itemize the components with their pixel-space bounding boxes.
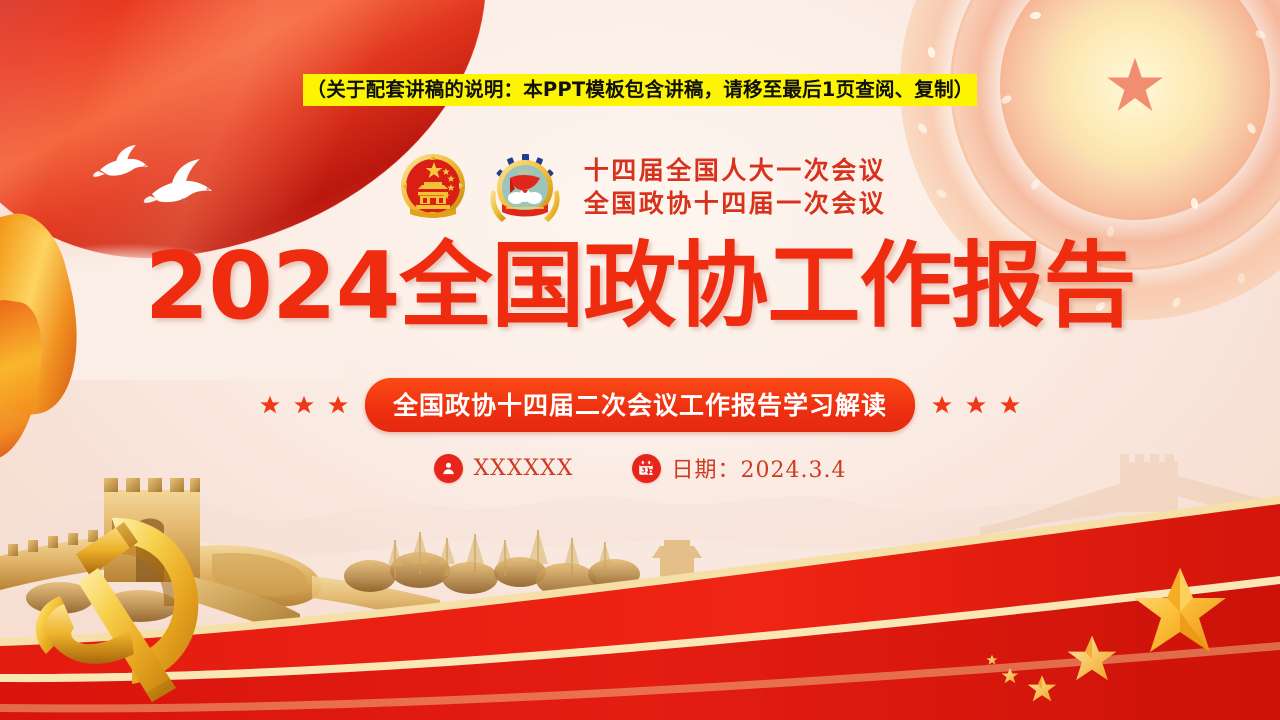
starburst-dot — [916, 122, 928, 135]
person-icon — [434, 454, 463, 483]
organization-line-2: 全国政协十四届一次会议 — [584, 187, 887, 220]
subtitle-row: 全国政协十四届二次会议工作报告学习解读 — [0, 378, 1280, 432]
gold-stars-decoration — [980, 564, 1270, 714]
starburst-dot — [927, 47, 937, 59]
organization-lines: 十四届全国人大一次会议 全国政协十四届一次会议 — [584, 154, 887, 220]
presentation-title-slide: （关于配套讲稿的说明：本PPT模板包含讲稿，请移至最后1页查阅、复制） — [0, 0, 1280, 720]
stars-right — [931, 394, 1021, 416]
stars-left — [259, 394, 349, 416]
presenter-item: XXXXXX — [434, 454, 574, 483]
organization-header: 1949 十四届全国人大一次会议 全国政协十四届一次会议 — [0, 148, 1280, 226]
cppcc-emblem-icon: 1949 — [486, 148, 564, 226]
date-value: 日期：2024.3.4 — [672, 452, 847, 484]
page-title: 2024全国政协工作报告 — [0, 240, 1280, 333]
svg-text:1949: 1949 — [517, 169, 532, 176]
national-emblem-of-china-icon — [394, 148, 472, 226]
starburst-dot — [1245, 122, 1257, 135]
star-icon — [327, 394, 349, 416]
organization-line-1: 十四届全国人大一次会议 — [584, 154, 887, 187]
starburst-dot — [1029, 11, 1041, 20]
date-item: 31 日期：2024.3.4 — [632, 452, 847, 484]
star-icon — [293, 394, 315, 416]
star-icon — [931, 394, 953, 416]
subtitle-pill: 全国政协十四届二次会议工作报告学习解读 — [365, 378, 915, 432]
cpc-party-emblem — [16, 488, 241, 720]
star-icon — [999, 394, 1021, 416]
meta-row: XXXXXX 31 日期：2024.3.4 — [0, 452, 1280, 484]
notice-banner-text: （关于配套讲稿的说明：本PPT模板包含讲稿，请移至最后1页查阅、复制） — [303, 74, 978, 106]
presenter-value: XXXXXX — [474, 456, 574, 481]
star-icon — [259, 394, 281, 416]
notice-banner: （关于配套讲稿的说明：本PPT模板包含讲稿，请移至最后1页查阅、复制） — [0, 74, 1280, 106]
star-icon — [965, 394, 987, 416]
starburst-dot — [1254, 28, 1267, 40]
calendar-icon: 31 — [632, 454, 661, 483]
